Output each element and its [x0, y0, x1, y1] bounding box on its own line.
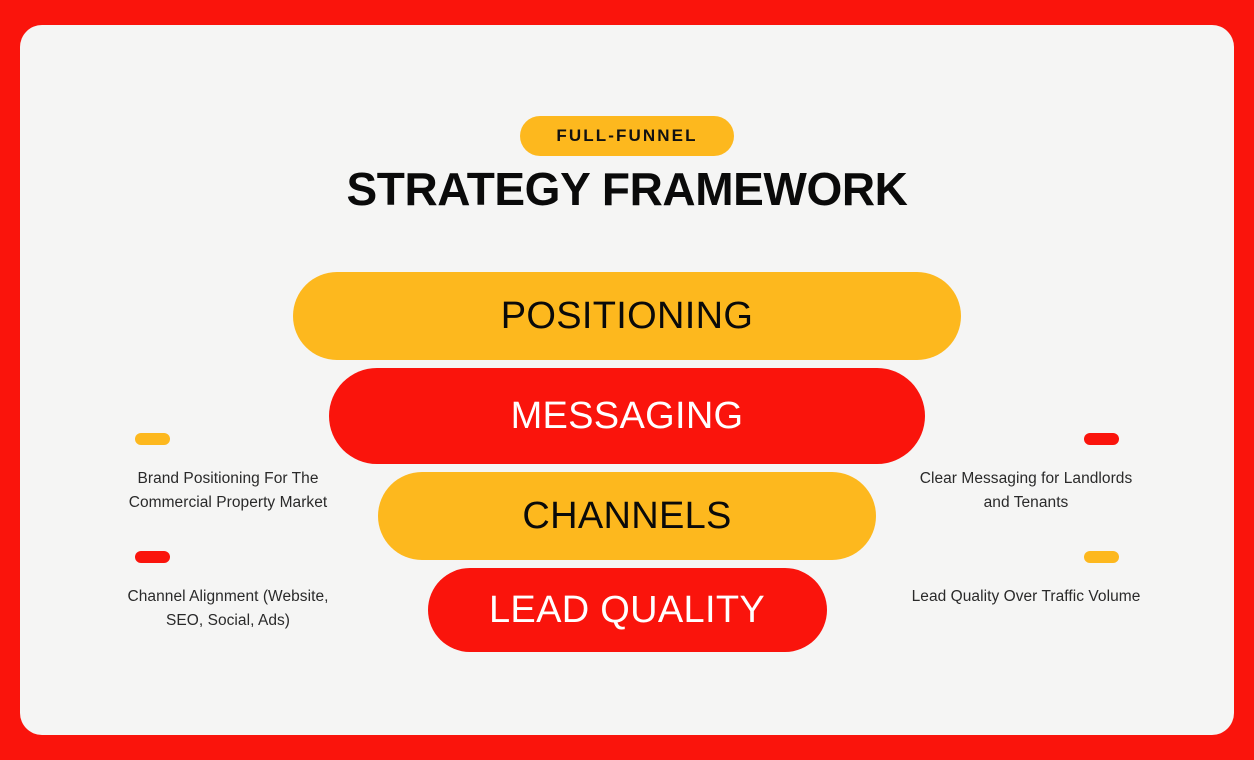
funnel-stage-label: MESSAGING	[511, 397, 744, 435]
funnel-stage-lead-quality: LEAD QUALITY	[428, 568, 827, 652]
slide-card: FULL-FUNNEL STRATEGY FRAMEWORK POSITIONI…	[20, 25, 1234, 735]
funnel-stage-channels: CHANNELS	[378, 472, 876, 560]
callout-text: Clear Messaging for Landlords and Tenant…	[911, 467, 1141, 515]
funnel-stage-label: CHANNELS	[522, 497, 731, 535]
callout-lead-quality: Lead Quality Over Traffic Volume	[911, 551, 1141, 609]
page-title: STRATEGY FRAMEWORK	[20, 163, 1234, 216]
callout-marker-icon	[135, 551, 170, 563]
callout-marker-icon	[1084, 551, 1119, 563]
funnel-stage-messaging: MESSAGING	[329, 368, 925, 464]
slide-header: FULL-FUNNEL STRATEGY FRAMEWORK	[20, 116, 1234, 216]
callout-text: Brand Positioning For The Commercial Pro…	[113, 467, 343, 515]
callout-marker-icon	[135, 433, 170, 445]
callouts-right: Clear Messaging for Landlords and Tenant…	[911, 433, 1141, 609]
eyebrow-badge: FULL-FUNNEL	[520, 116, 733, 156]
funnel-stage-positioning: POSITIONING	[293, 272, 961, 360]
callout-channel-alignment: Channel Alignment (Website, SEO, Social,…	[113, 551, 343, 633]
callout-text: Channel Alignment (Website, SEO, Social,…	[113, 585, 343, 633]
funnel-stage-label: POSITIONING	[501, 297, 753, 335]
funnel-stage-label: LEAD QUALITY	[489, 591, 765, 629]
callout-brand-positioning: Brand Positioning For The Commercial Pro…	[113, 433, 343, 515]
callout-text: Lead Quality Over Traffic Volume	[911, 585, 1141, 609]
callout-marker-icon	[1084, 433, 1119, 445]
callout-clear-messaging: Clear Messaging for Landlords and Tenant…	[911, 433, 1141, 515]
callouts-left: Brand Positioning For The Commercial Pro…	[113, 433, 343, 633]
